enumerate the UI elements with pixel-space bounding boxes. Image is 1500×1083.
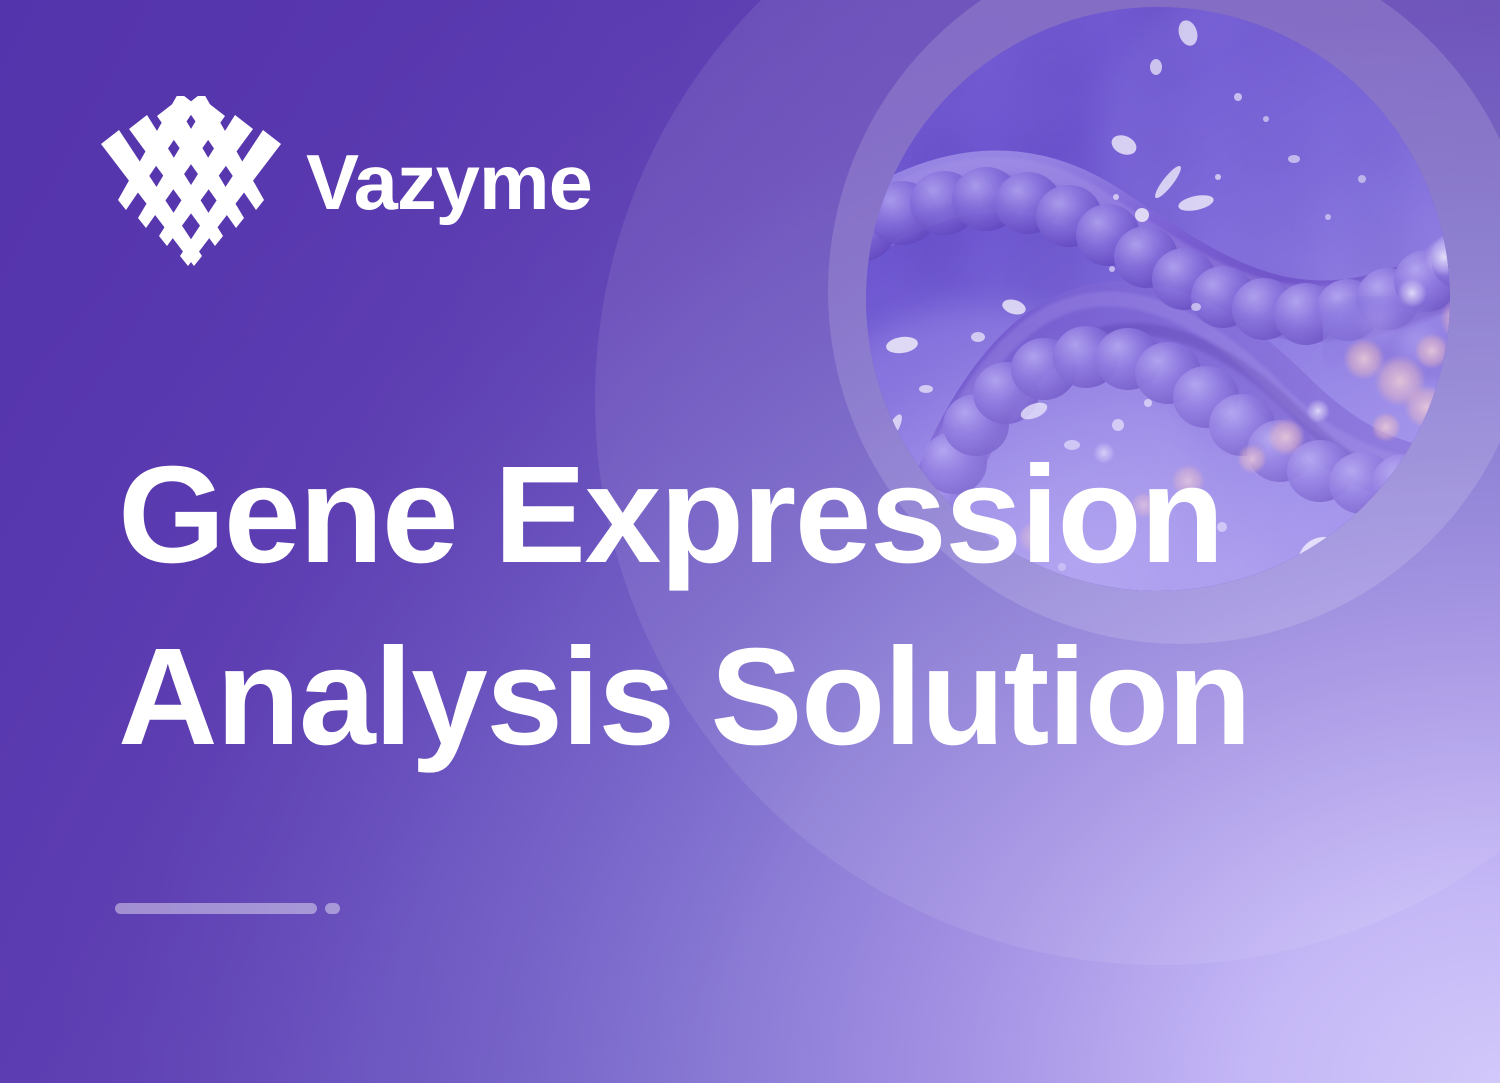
vazyme-logo[interactable]: Vazyme xyxy=(96,96,586,268)
page-title-line-1: Gene Expression xyxy=(118,424,1438,606)
vazyme-wordmark: Vazyme xyxy=(306,143,592,221)
vazyme-woven-chevron-mark xyxy=(96,96,286,268)
slide-progress-dash[interactable] xyxy=(325,903,340,914)
page-title-line-2: Analysis Solution xyxy=(118,606,1438,788)
slide-canvas: Vazyme Gene Expression Analysis Solution xyxy=(0,0,1500,1083)
page-title: Gene Expression Analysis Solution xyxy=(118,424,1438,788)
slide-progress-indicator[interactable] xyxy=(115,903,340,914)
slide-progress-bar[interactable] xyxy=(115,903,317,914)
